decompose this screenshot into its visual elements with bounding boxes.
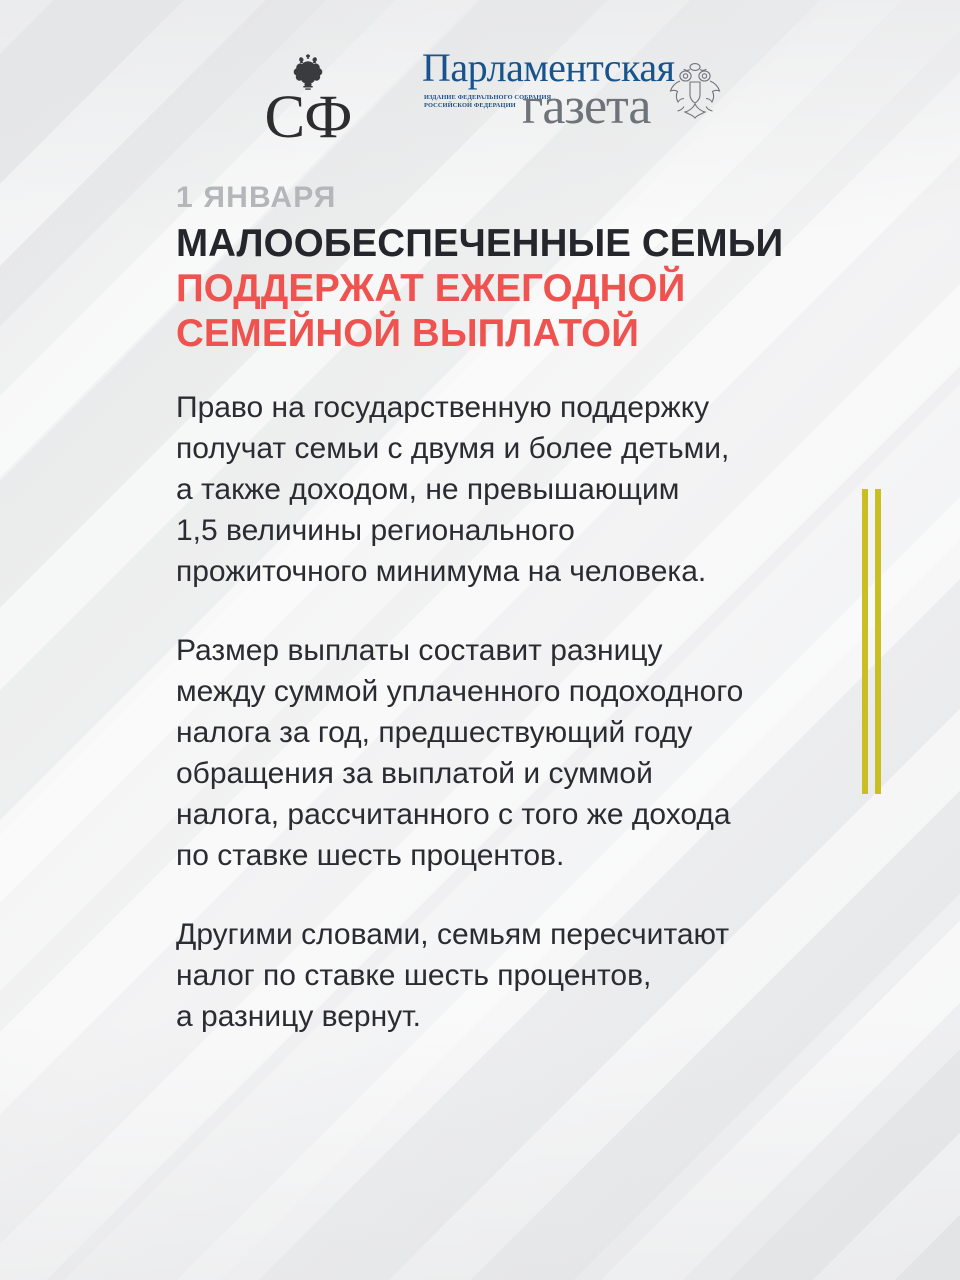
gazette-word-gazeta: газета [522, 81, 650, 133]
infographic-poster: СФ Парламентская ИЗДАНИЕ ФЕДЕРАЛЬНОГО СО… [0, 0, 960, 1280]
page-title: МАЛООБЕСПЕЧЕННЫЕ СЕМЬИ ПОДДЕРЖАТ ЕЖЕГОДН… [176, 222, 876, 356]
headline-line-red-2: СЕМЕЙНОЙ ВЫПЛАТОЙ [176, 312, 876, 357]
body-paragraph-3: Другими словами, семьям пересчитают нало… [176, 915, 836, 1038]
body-copy: Право на государственную поддержку получ… [176, 388, 836, 1037]
council-of-federation-logo: СФ [244, 44, 372, 148]
poster-content: 1 ЯНВАРЯ МАЛООБЕСПЕЧЕННЫЕ СЕМЬИ ПОДДЕРЖА… [176, 182, 876, 1037]
body-paragraph-1: Право на государственную поддержку получ… [176, 388, 836, 593]
headline-line-dark: МАЛООБЕСПЕЧЕННЫЕ СЕМЬИ [176, 222, 876, 267]
parliamentary-gazette-logo: Парламентская ИЗДАНИЕ ФЕДЕРАЛЬНОГО СОБРА… [416, 48, 716, 148]
body-paragraph-2: Размер выплаты составит разницу между су… [176, 631, 836, 877]
date-kicker: 1 ЯНВАРЯ [176, 182, 876, 214]
logo-bar: СФ Парламентская ИЗДАНИЕ ФЕДЕРАЛЬНОГО СО… [0, 40, 960, 148]
double-headed-eagle-icon [668, 60, 722, 122]
headline-line-red-1: ПОДДЕРЖАТ ЕЖЕГОДНОЙ [176, 267, 876, 312]
council-logo-letters: СФ [265, 88, 352, 148]
